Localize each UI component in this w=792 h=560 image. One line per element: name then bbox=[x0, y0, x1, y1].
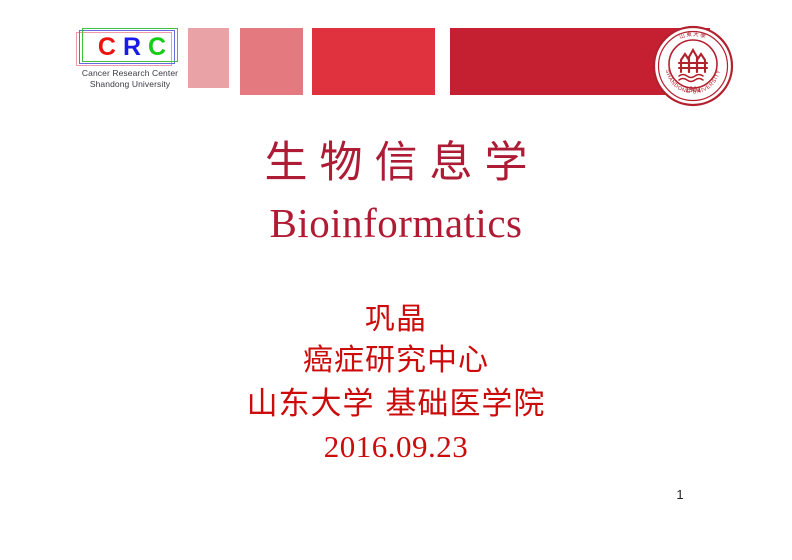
crc-letter-c2: C bbox=[148, 35, 166, 60]
author-school: 山东大学 基础医学院 bbox=[0, 382, 792, 426]
author-name: 巩晶 bbox=[0, 300, 792, 340]
crc-logo-frames: C R C bbox=[76, 28, 176, 66]
header-bar-3 bbox=[312, 28, 435, 95]
crc-logo-caption: Cancer Research Center Shandong Universi… bbox=[70, 68, 190, 90]
slide-canvas: C R C Cancer Research Center Shandong Un… bbox=[0, 0, 792, 560]
slide-title-chinese: 生物信息学 bbox=[0, 136, 792, 190]
crc-logo-letters: C R C bbox=[86, 32, 178, 62]
header-band: C R C Cancer Research Center Shandong Un… bbox=[0, 0, 792, 118]
page-number: 1 bbox=[660, 487, 700, 503]
header-bar-2 bbox=[240, 28, 303, 95]
author-block: 巩晶 癌症研究中心 山东大学 基础医学院 2016.09.23 bbox=[0, 300, 792, 468]
slide-title-english: Bioinformatics bbox=[0, 198, 792, 248]
crc-caption-line2: Shandong University bbox=[70, 79, 190, 90]
crc-letter-r: R bbox=[123, 35, 141, 60]
author-center: 癌症研究中心 bbox=[0, 340, 792, 382]
author-date: 2016.09.23 bbox=[0, 426, 792, 468]
crc-letter-c1: C bbox=[98, 35, 116, 60]
crc-logo: C R C Cancer Research Center Shandong Un… bbox=[72, 26, 187, 92]
header-bar-1 bbox=[188, 28, 229, 88]
crc-caption-line1: Cancer Research Center bbox=[70, 68, 190, 79]
shandong-university-seal-icon: 1901 山東大學 SHANDONG UNIVERSITY bbox=[651, 24, 735, 108]
